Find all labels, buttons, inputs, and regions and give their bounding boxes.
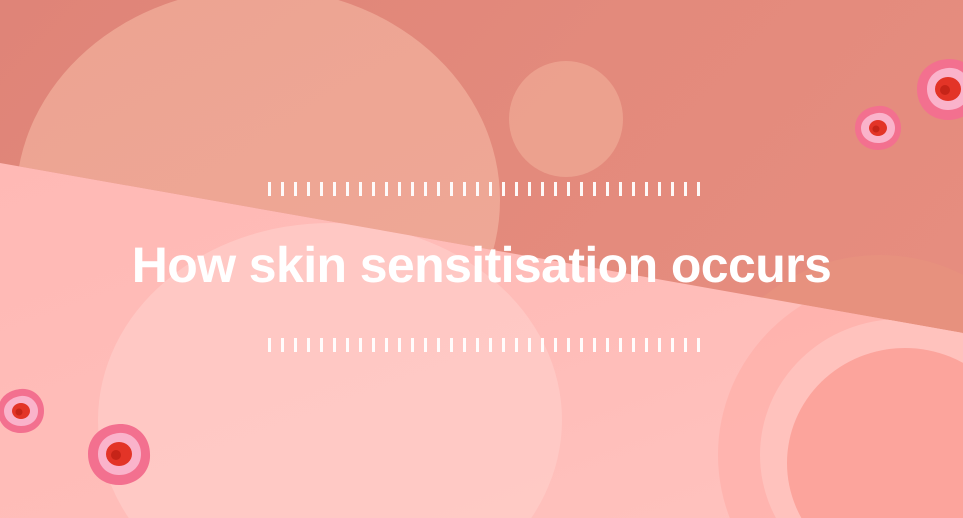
dashed-rule-bottom xyxy=(268,338,700,352)
page-title: How skin sensitisation occurs xyxy=(0,231,963,299)
slide-content: How skin sensitisation occurs xyxy=(0,0,963,518)
title-slide: How skin sensitisation occurs xyxy=(0,0,963,518)
dashed-rule-top xyxy=(268,182,700,196)
